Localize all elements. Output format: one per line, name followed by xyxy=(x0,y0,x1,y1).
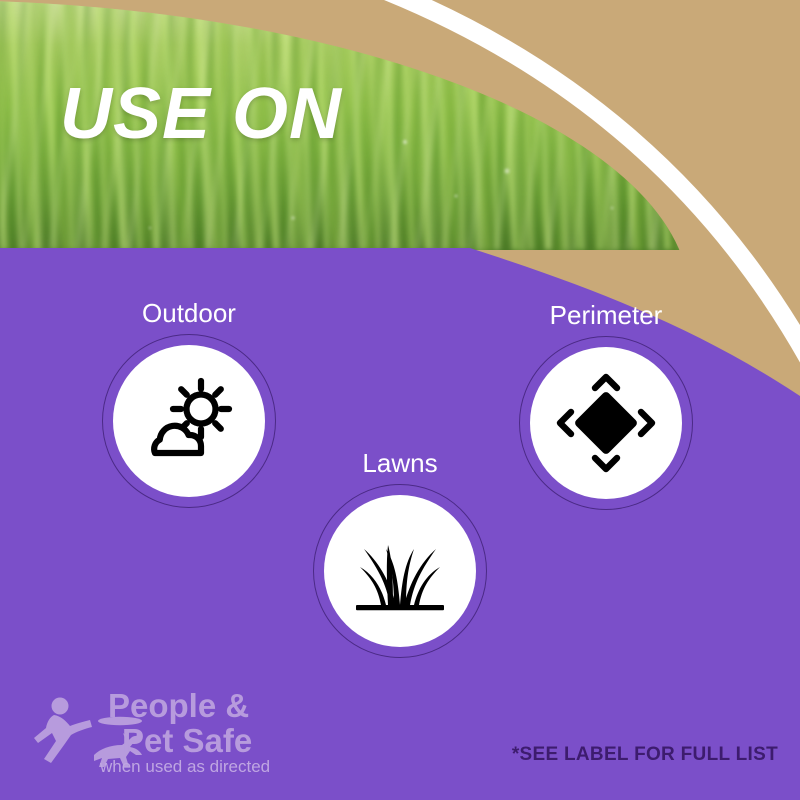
sun-behind-cloud-icon xyxy=(113,345,265,497)
feature-label-outdoor: Outdoor xyxy=(102,300,276,326)
feature-circle-lawns xyxy=(313,484,487,658)
feature-outdoor: Outdoor xyxy=(102,300,276,508)
people-pet-safe-logo: People & Pet Safe when used as directed xyxy=(30,683,290,783)
grass-icon xyxy=(324,495,476,647)
footnote-see-label: *SEE LABEL FOR FULL LIST xyxy=(512,744,778,766)
logo-tagline: when used as directed xyxy=(99,757,270,776)
feature-label-lawns: Lawns xyxy=(313,450,487,476)
logo-line2: Pet Safe xyxy=(122,722,252,759)
page-title: USE ON xyxy=(60,78,342,150)
feature-lawns: Lawns xyxy=(313,450,487,658)
use-on-poster: USE ON Outdoor xyxy=(0,0,800,800)
feature-label-perimeter: Perimeter xyxy=(519,302,693,328)
perimeter-diamond-icon xyxy=(530,347,682,499)
feature-circle-outdoor xyxy=(102,334,276,508)
logo-line1: People & xyxy=(108,687,249,724)
feature-circle-perimeter xyxy=(519,336,693,510)
feature-perimeter: Perimeter xyxy=(519,302,693,510)
